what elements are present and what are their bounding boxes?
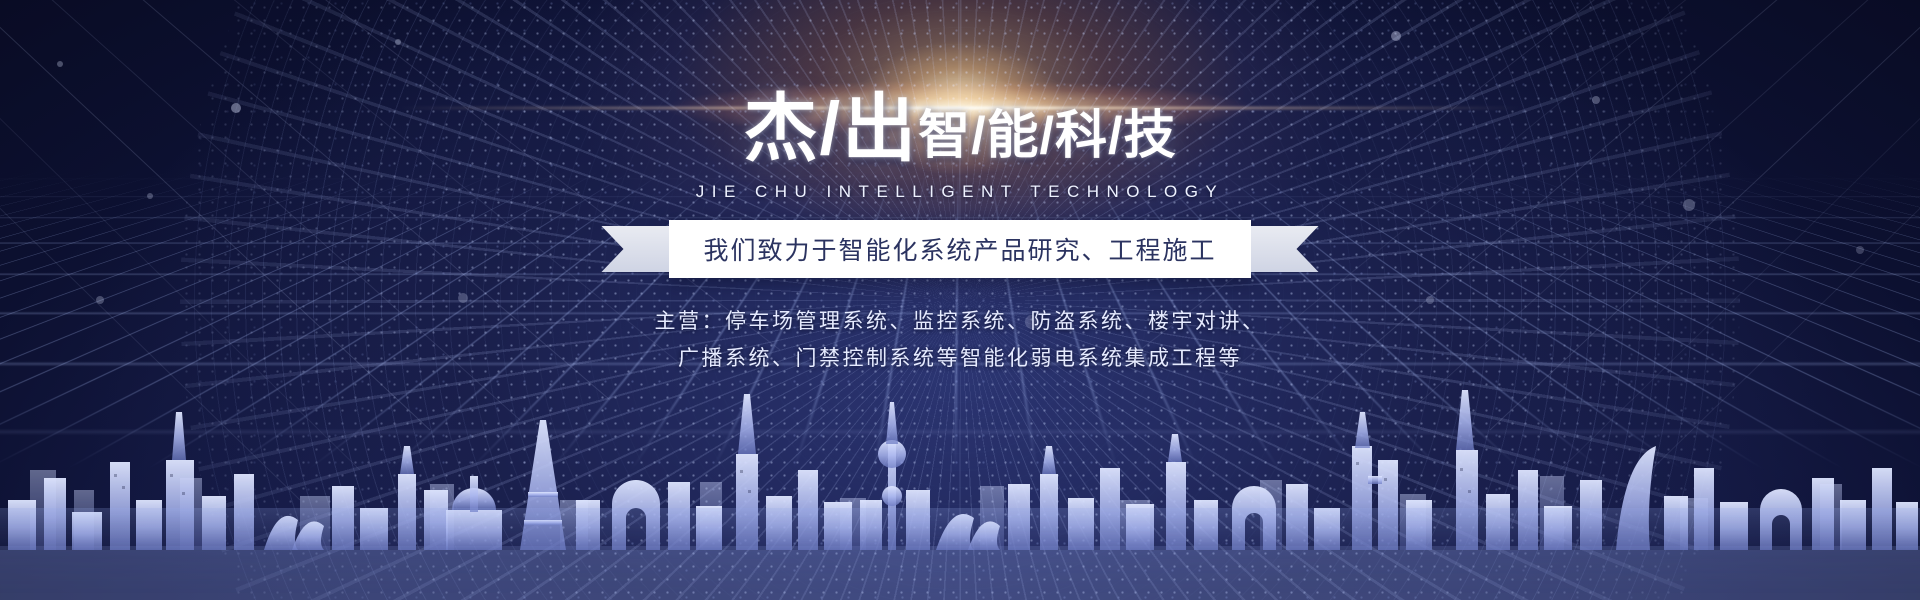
description-line-1: 主营：停车场管理系统、监控系统、防盗系统、楼宇对讲、	[655, 304, 1266, 341]
hero-banner: 杰/出 智/能/科/技 JIE CHU INTELLIGENT TECHNOLO…	[0, 0, 1920, 600]
brand-title-cn-primary: 杰/出	[744, 92, 919, 166]
brand-title-cn-secondary: 智/能/科/技	[918, 110, 1176, 166]
ribbon-tail-right	[1251, 226, 1319, 272]
skyline-reflection	[0, 508, 1920, 600]
business-description: 主营：停车场管理系统、监控系统、防盗系统、楼宇对讲、 广播系统、门禁控制系统等智…	[655, 304, 1266, 378]
ribbon-text: 我们致力于智能化系统产品研究、工程施工	[703, 231, 1216, 267]
brand-title-en: JIE CHU INTELLIGENT TECHNOLOGY	[696, 182, 1225, 202]
brand-title: 杰/出 智/能/科/技	[744, 92, 1177, 166]
description-line-2: 广播系统、门禁控制系统等智能化弱电系统集成工程等	[655, 341, 1266, 378]
ribbon-tail-left	[601, 226, 669, 272]
ribbon-body: 我们致力于智能化系统产品研究、工程施工	[669, 220, 1250, 278]
hero-content: 杰/出 智/能/科/技 JIE CHU INTELLIGENT TECHNOLO…	[0, 0, 1920, 378]
tagline-ribbon: 我们致力于智能化系统产品研究、工程施工	[601, 220, 1318, 278]
